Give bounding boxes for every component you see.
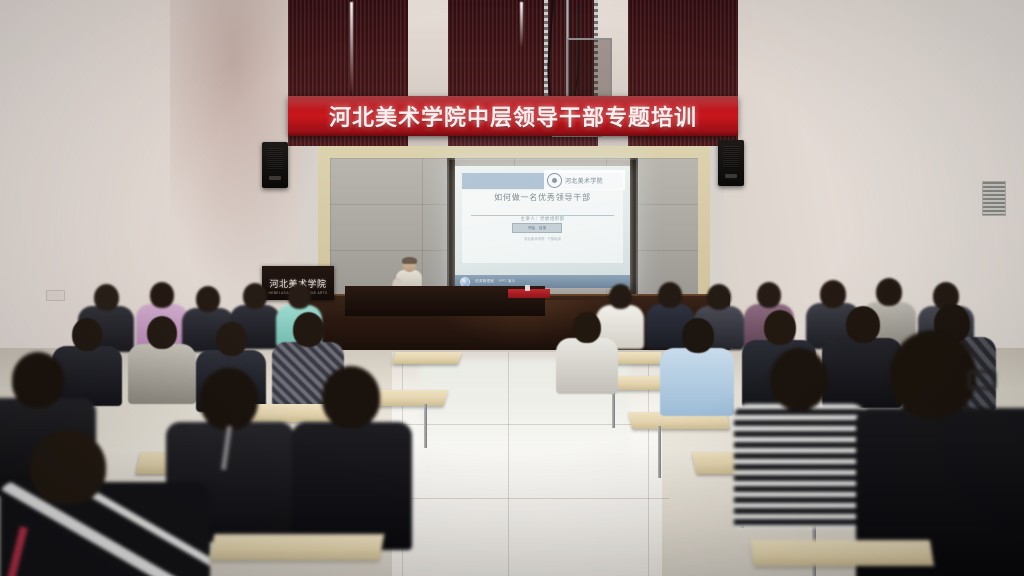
slide-buttons: 开始 目录 xyxy=(512,223,562,233)
attendee-head xyxy=(573,312,601,343)
attendee-head xyxy=(216,322,247,356)
taskbar-item-1: PPT 演示 xyxy=(499,279,515,284)
attendee-mid-r1 xyxy=(556,312,618,392)
slide-subtitle-text: 主讲人：党委组织部 xyxy=(455,216,630,222)
attendee-head xyxy=(288,284,311,309)
taskbar-item-0: 资源管理器 xyxy=(475,279,494,284)
attendee-head xyxy=(243,283,267,309)
floor-tile-line xyxy=(392,424,660,425)
attendee-torso xyxy=(0,482,210,576)
slide-logo-text: 河北美术学院 xyxy=(565,176,603,185)
attendee-head xyxy=(770,348,828,410)
event-banner: 河北美术学院中层领导干部专题培训 xyxy=(288,96,738,136)
attendee-head xyxy=(682,318,714,353)
slide-button-contents: 目录 xyxy=(539,226,546,231)
attendee-head xyxy=(94,284,119,311)
attendee-torso xyxy=(660,348,734,416)
attendee-head xyxy=(200,368,258,430)
attendee-head xyxy=(707,284,731,310)
glasses-icon xyxy=(968,370,996,390)
attendee-torso xyxy=(556,338,618,394)
curtain-light-streak-2 xyxy=(520,2,523,48)
floor-tile-line xyxy=(508,352,509,576)
wall-outlet-icon xyxy=(46,290,65,301)
stage-column-right xyxy=(630,158,638,298)
attendee-lightblue-shirt xyxy=(660,318,734,414)
presenter-hair xyxy=(402,257,417,264)
attendee-head xyxy=(820,280,846,308)
slide-surface: 河北美术学院 如何做一名优秀领导干部 主讲人：党委组织部 开始 目录 河北美术学… xyxy=(455,166,630,288)
vent-grille-icon xyxy=(982,181,1006,216)
slide-footer-text: 河北美术学院 · 干部培训 xyxy=(455,236,630,241)
slide-button-start: 开始 xyxy=(528,226,535,231)
desk-front-right-lowest xyxy=(750,540,934,566)
attendee-head xyxy=(876,278,902,306)
speaker-right-icon xyxy=(718,140,744,186)
attendee-head xyxy=(293,312,324,347)
attendee-head xyxy=(890,330,976,418)
floor-tile-line xyxy=(380,498,670,499)
speaker-right-grill xyxy=(723,146,739,168)
attendee-head xyxy=(609,284,632,309)
institution-seal-icon xyxy=(547,173,562,188)
desk-front-lowest xyxy=(210,534,385,560)
attendee-front-dark xyxy=(292,366,412,546)
projection-screen: 河北美术学院 如何做一名优秀领导干部 主讲人：党委组织部 开始 目录 河北美术学… xyxy=(455,166,630,288)
attendee-head xyxy=(764,310,796,345)
desk-left-upper xyxy=(393,352,462,364)
table-item xyxy=(525,285,530,291)
slide-logo: 河北美术学院 xyxy=(544,170,625,190)
speaker-left-icon xyxy=(262,142,288,188)
attendee-head xyxy=(196,286,220,312)
attendee-front-geometric xyxy=(0,430,210,576)
desk-leg xyxy=(612,388,615,428)
attendee-torso xyxy=(734,404,866,528)
attendee-head xyxy=(12,352,64,408)
attendee-head xyxy=(30,430,106,504)
attendee-head xyxy=(150,282,174,308)
attendee-head xyxy=(72,318,102,351)
speaker-right-badge xyxy=(725,174,737,178)
slide-title-text: 如何做一名优秀领导干部 xyxy=(455,192,630,203)
stage-column-left xyxy=(447,158,455,298)
attendee-head xyxy=(147,316,177,349)
speaker-left-badge xyxy=(269,176,281,180)
desk-leg xyxy=(424,404,427,448)
attendee-head xyxy=(757,282,781,308)
desk-leg xyxy=(658,426,661,478)
lecture-hall-photo: 河北美术学院中层领导干部专题培训 河北美术学院 如何做一名优秀领导干部 主讲人：… xyxy=(0,0,1024,576)
start-orb-icon xyxy=(460,277,470,287)
curtain-light-streak-1 xyxy=(350,2,353,94)
attendee-head xyxy=(658,282,682,308)
attendee-torso xyxy=(292,422,412,550)
speaker-left-grill xyxy=(267,148,283,170)
attendee-head xyxy=(322,366,380,428)
attendee-front-striped xyxy=(734,348,866,524)
banner-sheen xyxy=(288,96,738,110)
